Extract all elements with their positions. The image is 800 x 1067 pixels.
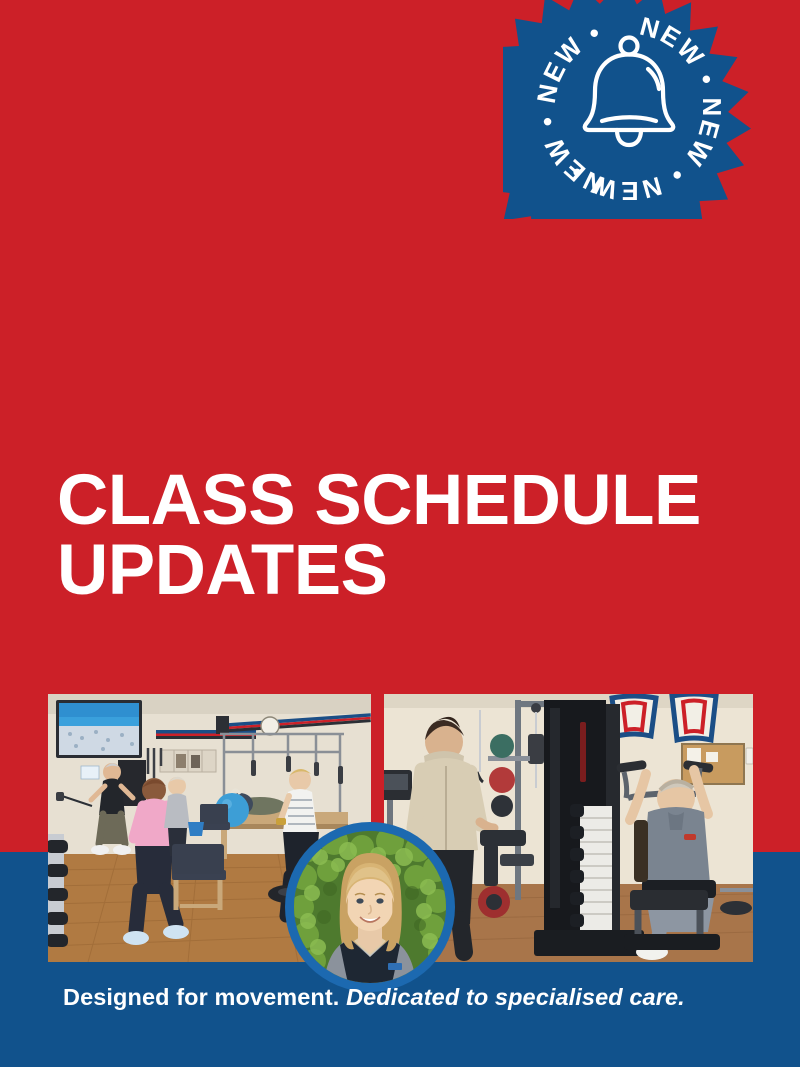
tagline-part2: Dedicated to specialised care. (346, 984, 685, 1010)
instructor-portrait (285, 822, 455, 992)
poster-canvas: NEW • NEW • NEW • NEW • NEW • CLASS SCHE… (0, 0, 800, 1067)
tagline: Designed for movement. Dedicated to spec… (63, 984, 763, 1011)
page-title-line1: CLASS SCHEDULE (57, 466, 737, 536)
avatar-image (294, 831, 446, 983)
tagline-part1: Designed for movement. (63, 984, 339, 1010)
page-title-line2: UPDATES (57, 536, 737, 606)
page-title: CLASS SCHEDULE UPDATES (57, 466, 737, 607)
new-starburst-badge: NEW • NEW • NEW • NEW • NEW • (503, 0, 756, 219)
